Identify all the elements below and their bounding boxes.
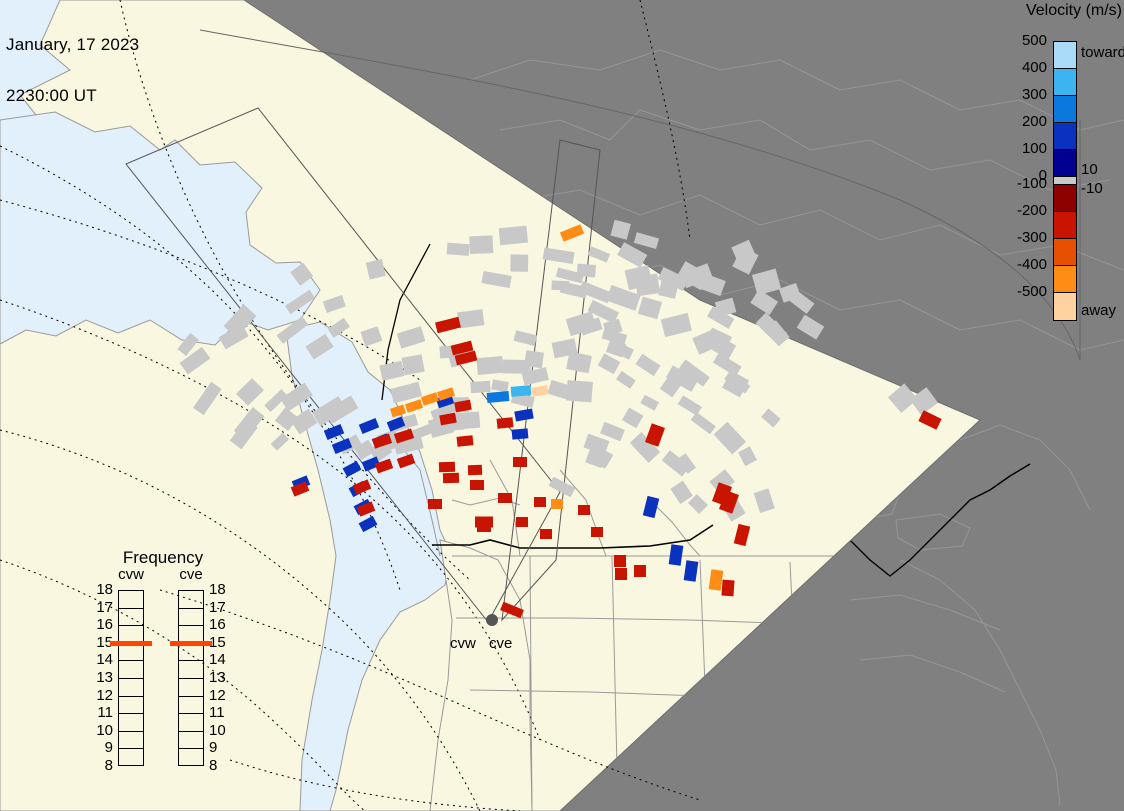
frequency-tick-cve-18: 18	[209, 581, 233, 598]
title-time: 2230:00 UT	[6, 87, 139, 104]
velocity-cell	[614, 555, 626, 567]
frequency-tick-cve-10: 10	[209, 722, 233, 739]
radar-site-label-cvw: cvw	[450, 635, 476, 652]
no-data-cell	[510, 254, 528, 271]
colorbar-segment--500	[1054, 293, 1076, 320]
frequency-tick-cve-8: 8	[209, 757, 233, 774]
title-date: January, 17 2023	[6, 36, 139, 53]
velocity-cell	[457, 435, 474, 447]
velocity-cell	[428, 499, 442, 509]
frequency-tick-cvw-12: 12	[89, 687, 113, 704]
colorbar-segment-100	[1054, 150, 1076, 177]
no-data-cell	[470, 381, 490, 394]
velocity-cell	[511, 385, 532, 397]
frequency-bar-cve[interactable]	[178, 590, 204, 766]
no-data-cell	[499, 226, 528, 246]
frequency-tick-cve-17: 17	[209, 599, 233, 616]
colorbar-tick-200: 200	[999, 113, 1047, 130]
colorbar-title: Velocity (m/s)	[1026, 2, 1124, 20]
velocity-cell	[534, 497, 546, 507]
colorbar-segment--200	[1054, 212, 1076, 239]
colorbar-away-label: away	[1081, 302, 1116, 319]
no-data-cell	[402, 354, 425, 375]
velocity-cell	[497, 417, 514, 429]
frequency-legend-title: Frequency	[88, 548, 238, 568]
velocity-colorbar[interactable]	[1053, 41, 1077, 321]
colorbar-zero-lower-label: -10	[1081, 180, 1103, 197]
frequency-row	[179, 697, 203, 715]
frequency-row	[179, 679, 203, 697]
frequency-tick-cve-13: 13	[209, 669, 233, 686]
frequency-row	[119, 749, 143, 767]
frequency-legend: Frequency cvw18171615141312111098cve1817…	[88, 548, 238, 793]
colorbar-tick--200: -200	[999, 202, 1047, 219]
colorbar-tick-500: 500	[999, 32, 1047, 49]
velocity-cell	[498, 493, 512, 503]
colorbar-tick--100: -100	[999, 175, 1047, 192]
frequency-row	[119, 644, 143, 662]
frequency-bar-cvw[interactable]	[118, 590, 144, 766]
velocity-cell	[615, 568, 627, 580]
velocity-cell	[551, 499, 563, 509]
frequency-row	[179, 714, 203, 732]
frequency-tick-cvw-16: 16	[89, 616, 113, 633]
frequency-tick-cve-15: 15	[209, 634, 233, 651]
no-data-cell	[457, 309, 484, 328]
radar-site-dot[interactable]	[486, 614, 498, 626]
colorbar-tick--400: -400	[999, 256, 1047, 273]
frequency-header-cvw: cvw	[108, 566, 154, 583]
velocity-cell	[468, 465, 482, 475]
frequency-tick-cvw-9: 9	[89, 739, 113, 756]
frequency-tick-cvw-13: 13	[89, 669, 113, 686]
frequency-tick-cve-12: 12	[209, 687, 233, 704]
page-title: January, 17 2023 2230:00 UT	[6, 2, 139, 138]
colorbar-segment--100	[1054, 185, 1076, 212]
velocity-cell	[540, 529, 552, 539]
colorbar-segment-200	[1054, 123, 1076, 150]
frequency-row	[119, 714, 143, 732]
frequency-tick-cve-11: 11	[209, 704, 233, 721]
frequency-header-cve: cve	[168, 566, 214, 583]
colorbar-segment-0	[1054, 177, 1076, 185]
radar-site-label-cve: cve	[489, 635, 512, 652]
superdarn-velocity-map: January, 17 2023 2230:00 UT Velocity (m/…	[0, 0, 1124, 811]
no-data-cell	[577, 264, 596, 278]
frequency-tick-cvw-8: 8	[89, 757, 113, 774]
velocity-cell	[516, 517, 528, 527]
no-data-cell	[469, 235, 493, 254]
colorbar-tick-400: 400	[999, 59, 1047, 76]
colorbar-tick--500: -500	[999, 283, 1047, 300]
frequency-row	[179, 644, 203, 662]
velocity-cell	[512, 428, 529, 439]
velocity-cell	[487, 391, 510, 403]
frequency-row	[179, 732, 203, 750]
frequency-marker-cve	[170, 641, 212, 646]
frequency-row	[119, 697, 143, 715]
frequency-row	[119, 591, 143, 609]
velocity-cell	[513, 457, 527, 467]
frequency-row	[119, 732, 143, 750]
colorbar-segment-400	[1054, 69, 1076, 96]
colorbar-tick-300: 300	[999, 86, 1047, 103]
colorbar-zero-upper-label: 10	[1081, 161, 1098, 178]
frequency-tick-cvw-17: 17	[89, 599, 113, 616]
colorbar-tick-100: 100	[999, 140, 1047, 157]
colorbar-tick--300: -300	[999, 229, 1047, 246]
frequency-marker-cvw	[110, 641, 152, 646]
colorbar-segment--400	[1054, 266, 1076, 293]
velocity-cell	[591, 527, 603, 537]
colorbar-segment-500	[1054, 42, 1076, 69]
velocity-cell	[721, 580, 734, 597]
no-data-cell	[635, 274, 660, 297]
frequency-row	[179, 749, 203, 767]
colorbar-toward-label: toward	[1081, 44, 1124, 61]
frequency-row	[179, 661, 203, 679]
frequency-tick-cve-16: 16	[209, 616, 233, 633]
velocity-cell	[470, 480, 484, 490]
velocity-cell	[634, 565, 646, 577]
frequency-tick-cve-9: 9	[209, 739, 233, 756]
frequency-row	[179, 591, 203, 609]
frequency-tick-cvw-18: 18	[89, 581, 113, 598]
velocity-cell	[578, 505, 590, 515]
frequency-row	[179, 609, 203, 627]
colorbar-segment--300	[1054, 239, 1076, 266]
frequency-row	[119, 609, 143, 627]
frequency-tick-cve-14: 14	[209, 651, 233, 668]
frequency-row	[119, 661, 143, 679]
frequency-tick-cvw-10: 10	[89, 722, 113, 739]
colorbar-segment-300	[1054, 96, 1076, 123]
frequency-tick-cvw-11: 11	[89, 704, 113, 721]
frequency-tick-cvw-14: 14	[89, 651, 113, 668]
velocity-cell	[439, 462, 455, 473]
velocity-cell	[477, 522, 491, 532]
no-data-cell	[524, 350, 544, 368]
no-data-cell	[566, 380, 593, 402]
frequency-row	[119, 679, 143, 697]
no-data-cell	[447, 243, 470, 256]
no-data-cell	[476, 356, 503, 375]
velocity-cell	[443, 473, 459, 484]
